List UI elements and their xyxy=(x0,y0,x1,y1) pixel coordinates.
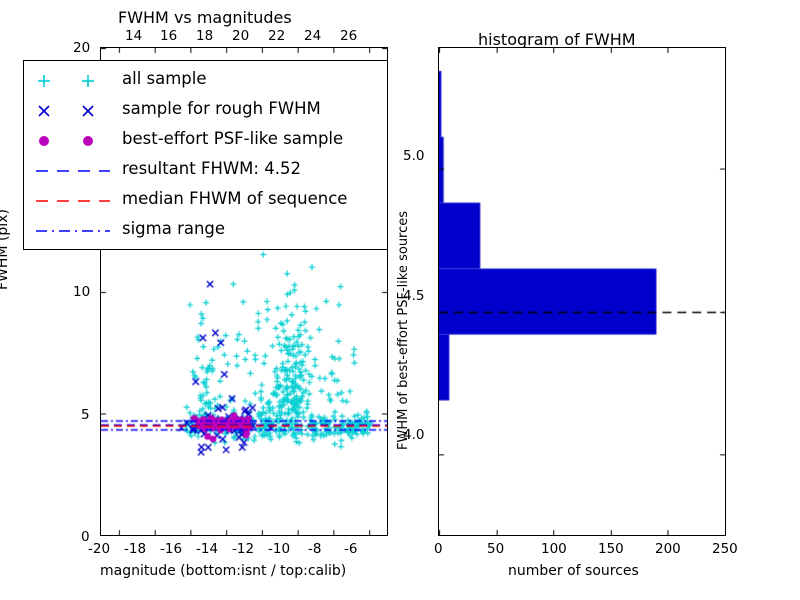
left-xtick--16: -16 xyxy=(160,541,182,557)
top-tick-24: 24 xyxy=(304,28,321,44)
left-xtick--14: -14 xyxy=(196,541,218,557)
legend-item-median-fwhm: median FHWM of sequence xyxy=(24,186,387,216)
top-tick-14: 14 xyxy=(125,28,142,44)
legend-label-all-sample: all sample xyxy=(122,69,207,88)
left-xtick--20: -20 xyxy=(88,541,110,557)
left-ytick-5: 5 xyxy=(81,407,90,423)
right-xtick-100: 100 xyxy=(541,541,567,557)
left-xtick--12: -12 xyxy=(232,541,254,557)
legend-item-psf-like: best-effort PSF-like sample xyxy=(24,126,387,156)
legend-label-rough-fwhm: sample for rough FWHM xyxy=(122,99,321,118)
right-xaxis-label: number of sources xyxy=(508,563,639,579)
right-yaxis-label: FWHM of best-effort PSF-like sources xyxy=(396,211,411,450)
red-dashed-line-icon xyxy=(30,186,118,216)
legend-item-all-sample: all sample xyxy=(24,66,387,96)
left-yaxis-label: FWHM (pix) xyxy=(0,209,11,290)
top-tick-22: 22 xyxy=(268,28,285,44)
right-xtick-0: 0 xyxy=(434,541,443,557)
right-xtick-150: 150 xyxy=(598,541,624,557)
top-tick-16: 16 xyxy=(160,28,177,44)
top-tick-26: 26 xyxy=(340,28,357,44)
circle-marker-icon xyxy=(30,126,118,156)
right-histogram-plot[interactable] xyxy=(438,47,726,536)
right-xtick-200: 200 xyxy=(655,541,681,557)
left-plot-title: FWHM vs magnitudes xyxy=(118,8,292,27)
left-xtick--8: -8 xyxy=(308,541,321,557)
legend-item-rough-fwhm: sample for rough FWHM xyxy=(24,96,387,126)
plus-marker-icon xyxy=(30,66,118,96)
left-xtick--18: -18 xyxy=(124,541,146,557)
x-marker-icon xyxy=(30,96,118,126)
top-tick-20: 20 xyxy=(232,28,249,44)
right-xtick-250: 250 xyxy=(712,541,738,557)
left-xtick--10: -10 xyxy=(268,541,290,557)
figure-root: FWHM vs magnitudes 14 16 18 20 22 24 26 … xyxy=(0,0,800,600)
legend-box: all sample sample for rough FWHM best-ef… xyxy=(23,60,388,250)
legend-item-resultant-fwhm: resultant FHWM: 4.52 xyxy=(24,156,387,186)
right-plot-canvas xyxy=(439,48,725,535)
legend-label-median-fwhm: median FHWM of sequence xyxy=(122,189,347,208)
legend-label-psf-like: best-effort PSF-like sample xyxy=(122,129,343,148)
left-xaxis-label: magnitude (bottom:isnt / top:calib) xyxy=(100,563,346,579)
blue-dashed-line-icon xyxy=(30,156,118,186)
right-ytick-5.0: 5.0 xyxy=(403,148,424,164)
left-ytick-10: 10 xyxy=(73,284,90,300)
legend-label-resultant-fwhm: resultant FHWM: 4.52 xyxy=(122,159,301,178)
top-tick-18: 18 xyxy=(196,28,213,44)
blue-dashdot-line-icon xyxy=(30,216,118,246)
legend-label-sigma-range: sigma range xyxy=(122,219,225,238)
left-xtick--6: -6 xyxy=(344,541,357,557)
left-ytick-20: 20 xyxy=(73,40,90,56)
right-xtick-50: 50 xyxy=(487,541,504,557)
legend-item-sigma-range: sigma range xyxy=(24,216,387,246)
